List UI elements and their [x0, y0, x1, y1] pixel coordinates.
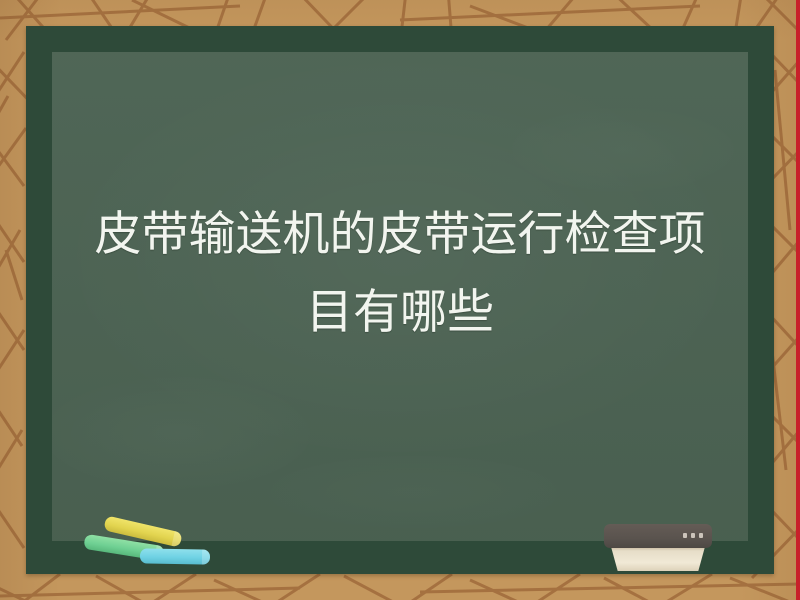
- chalk-tray-chalk: [78, 514, 208, 576]
- eraser-dots: [683, 533, 703, 538]
- chalkboard-scene: 皮带输送机的皮带运行检查项 目有哪些: [0, 0, 800, 600]
- eraser-dot-3: [699, 533, 703, 538]
- board-eraser: [604, 524, 712, 572]
- eraser-body: [604, 524, 712, 548]
- chalkboard-frame: 皮带输送机的皮带运行检查项 目有哪些: [26, 26, 774, 574]
- chalk-stick-blue: [140, 548, 210, 564]
- headline-line-2: 目有哪些: [52, 274, 748, 352]
- chalk-tip-blue: [202, 549, 210, 564]
- chalk-tip-yellow: [172, 531, 183, 547]
- chalkboard-headline: 皮带输送机的皮带运行检查项 目有哪些: [52, 196, 748, 352]
- headline-line-1: 皮带输送机的皮带运行检查项: [52, 196, 748, 274]
- red-edge-stripe: [796, 0, 800, 600]
- eraser-dot-2: [691, 533, 695, 538]
- eraser-dot-1: [683, 533, 687, 538]
